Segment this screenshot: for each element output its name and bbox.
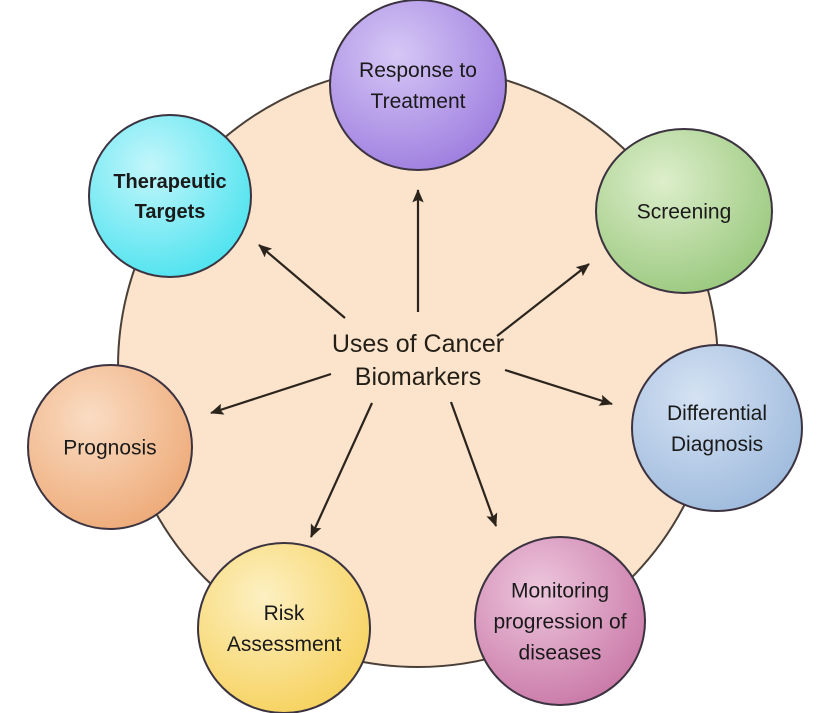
node-monitoring-progression-of-diseases[interactable]: Monitoringprogression ofdiseases (475, 537, 645, 705)
node-screening[interactable]: Screening (596, 129, 772, 293)
node-label-monitoring-progression-of-diseases-line-3: diseases (519, 641, 602, 664)
node-circle-differential-diagnosis[interactable] (632, 345, 802, 511)
node-label-screening-line-1: Screening (637, 200, 732, 223)
node-label-therapeutic-targets-line-1: Therapeutic (113, 171, 226, 193)
node-label-differential-diagnosis-line-2: Diagnosis (671, 433, 763, 456)
node-label-monitoring-progression-of-diseases-line-2: progression of (493, 610, 626, 633)
node-risk-assessment[interactable]: RiskAssessment (198, 543, 370, 713)
node-label-response-to-treatment-line-1: Response to (359, 59, 477, 82)
node-label-prognosis-line-1: Prognosis (63, 436, 156, 459)
node-response-to-treatment[interactable]: Response toTreatment (330, 0, 506, 170)
node-label-response-to-treatment-line-2: Treatment (371, 90, 466, 113)
node-circle-therapeutic-targets[interactable] (89, 115, 251, 277)
node-label-differential-diagnosis-line-1: Differential (667, 402, 767, 425)
node-label-therapeutic-targets-line-2: Targets (135, 201, 206, 223)
center-label-line-2: Biomarkers (355, 363, 481, 391)
node-label-monitoring-progression-of-diseases-line-1: Monitoring (511, 579, 609, 602)
node-label-risk-assessment-line-2: Assessment (227, 633, 342, 656)
node-therapeutic-targets[interactable]: TherapeuticTargets (89, 115, 251, 277)
diagram-canvas: Uses of Cancer Biomarkers Response toTre… (0, 0, 826, 713)
node-label-risk-assessment-line-1: Risk (264, 602, 305, 625)
node-circle-risk-assessment[interactable] (198, 543, 370, 713)
diagram-root: Uses of Cancer Biomarkers Response toTre… (0, 0, 826, 713)
node-prognosis[interactable]: Prognosis (28, 365, 192, 529)
node-circle-response-to-treatment[interactable] (330, 0, 506, 170)
center-label-line-1: Uses of Cancer (332, 330, 504, 358)
node-differential-diagnosis[interactable]: DifferentialDiagnosis (632, 345, 802, 511)
